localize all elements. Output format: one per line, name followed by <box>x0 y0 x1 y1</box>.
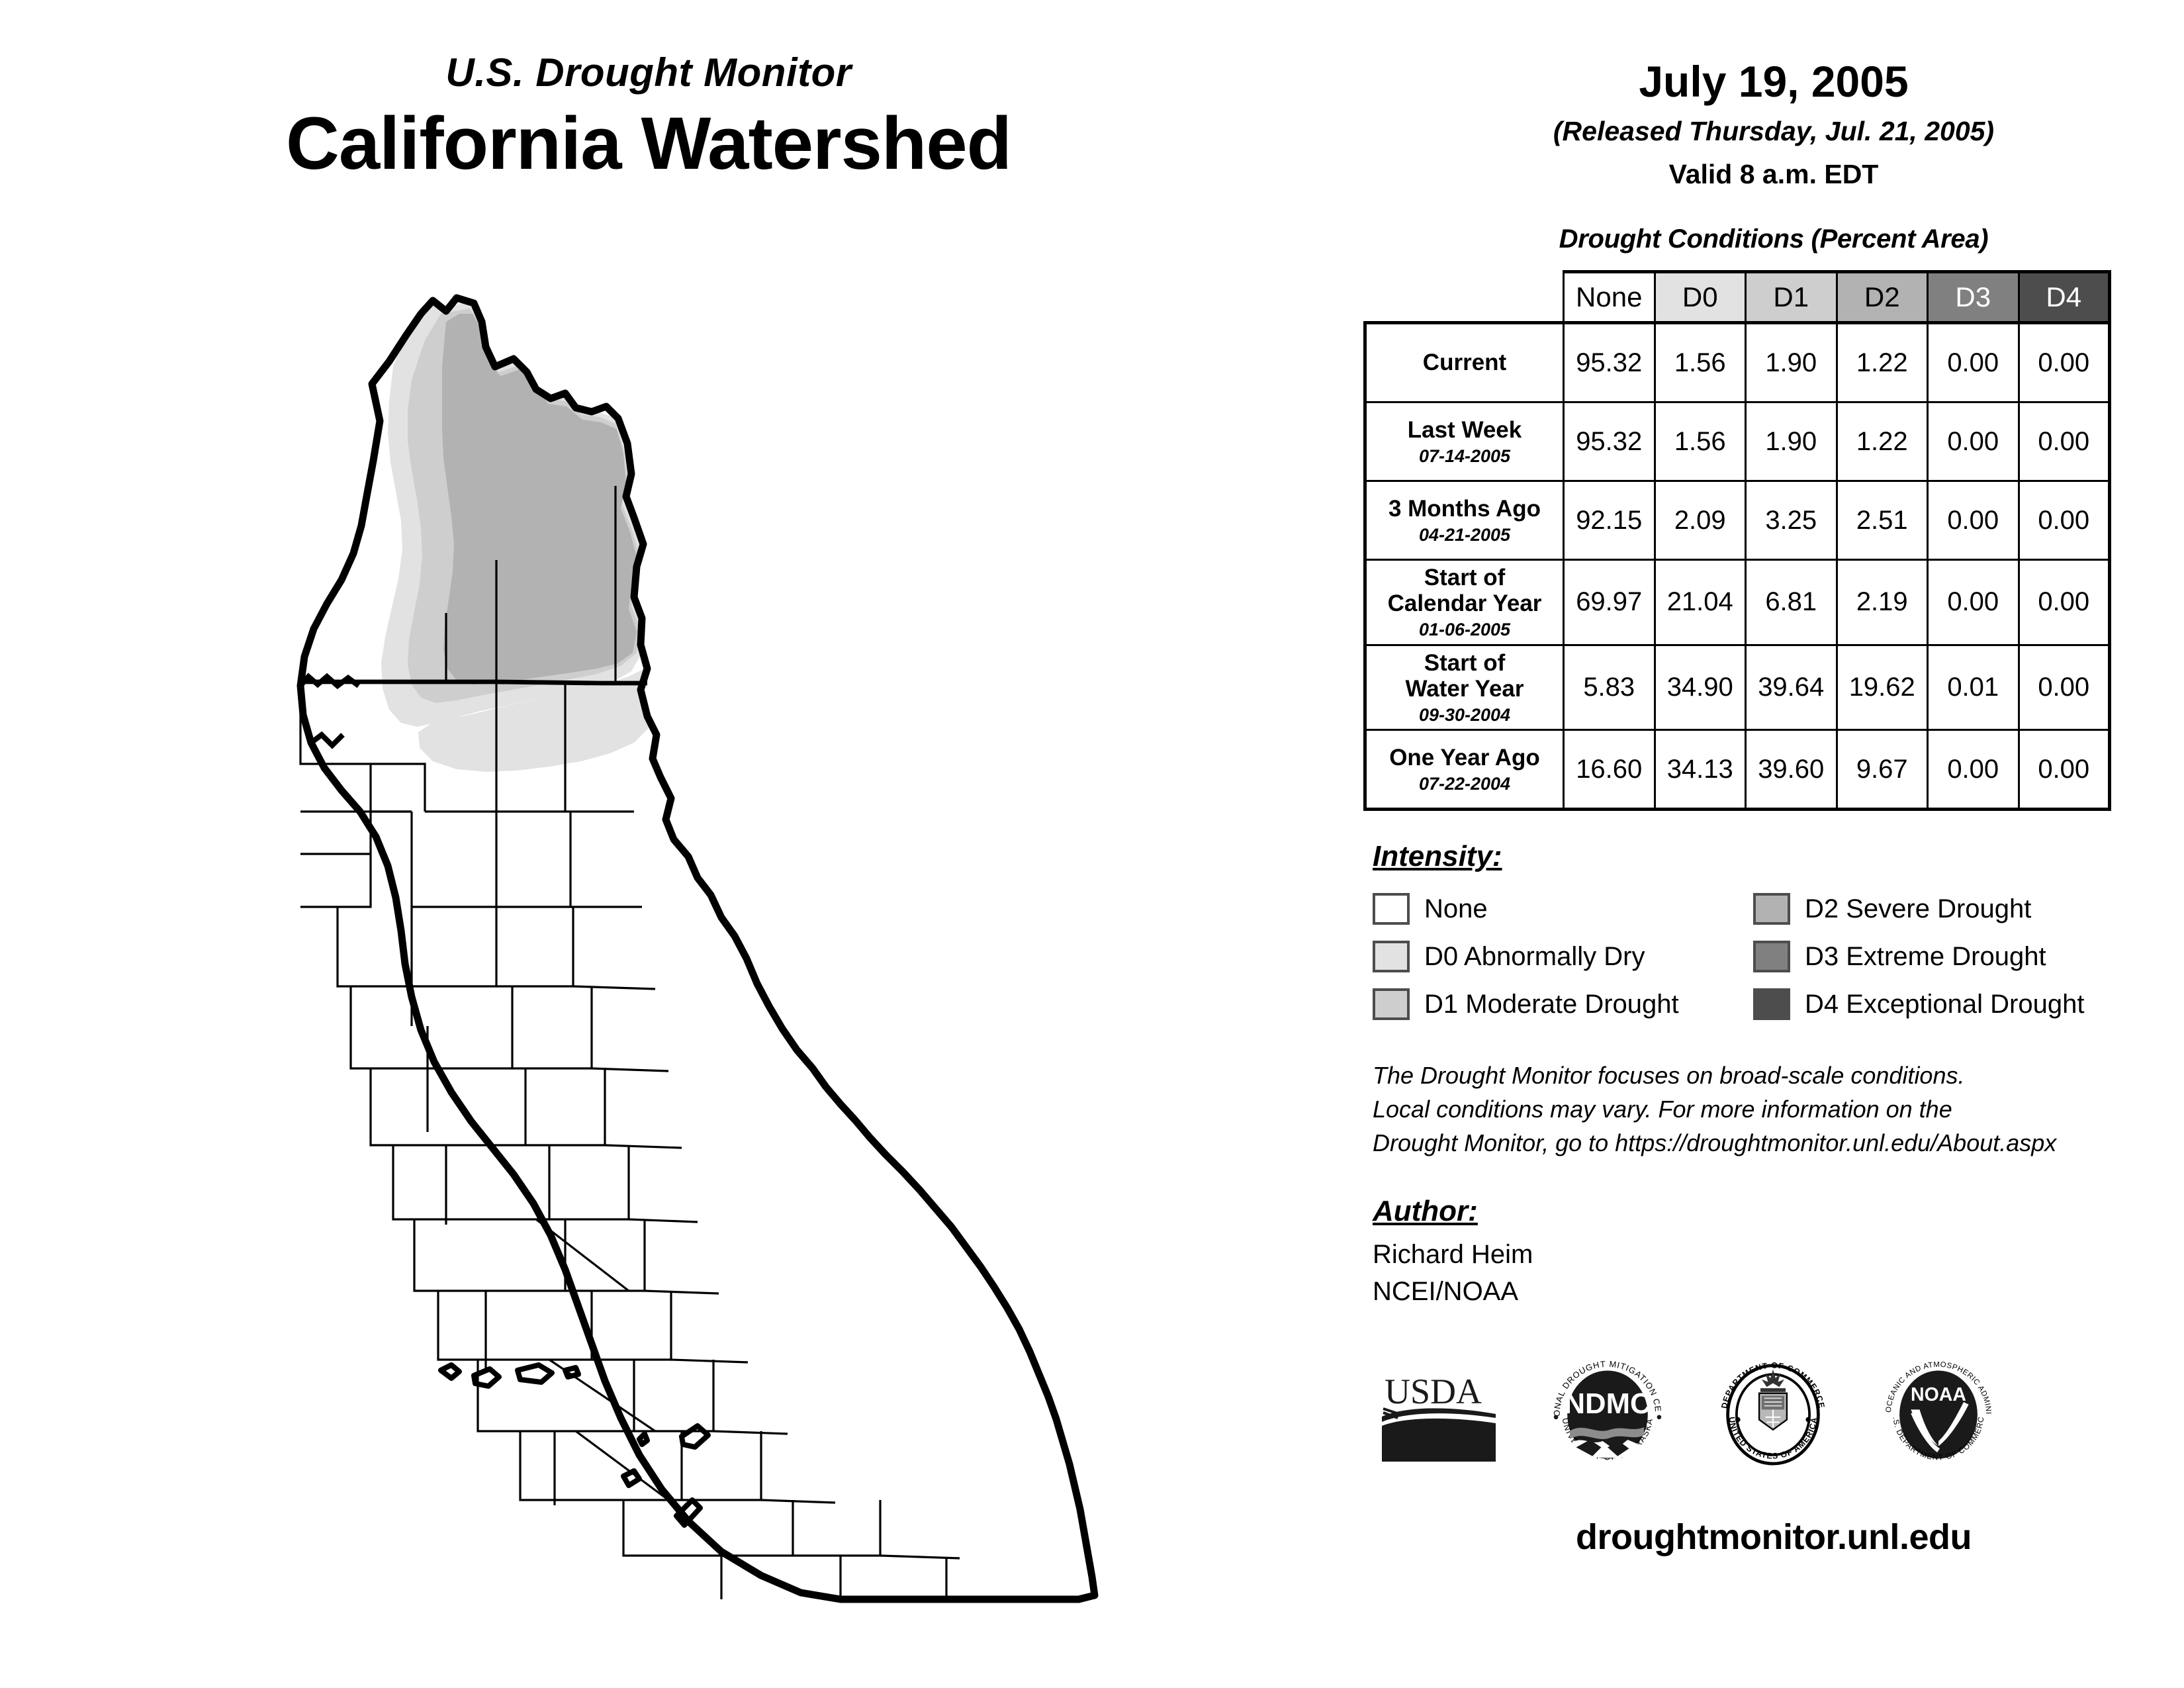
legend-swatch-d2 <box>1753 893 1790 925</box>
drought-shading-group <box>381 298 655 772</box>
author-heading: Author: <box>1373 1195 2184 1228</box>
table-row: Last Week07-14-200595.321.561.901.220.00… <box>1365 402 2110 481</box>
right-panel: July 19, 2005 (Released Thursday, Jul. 2… <box>1363 0 2184 1688</box>
cell-0-none: 95.32 <box>1564 323 1655 402</box>
table-header-d3: D3 <box>1928 272 2019 323</box>
row-label-3: Start ofCalendar Year01-06-2005 <box>1365 560 1564 645</box>
title-block: U.S. Drought Monitor California Watershe… <box>0 53 1297 183</box>
legend-swatch-d3 <box>1753 941 1790 972</box>
author-name: Richard Heim <box>1373 1236 2184 1274</box>
legend-label-d3: D3 Extreme Drought <box>1805 942 2046 972</box>
map-svg <box>99 285 1291 1648</box>
footer-url: droughtmonitor.unl.edu <box>1363 1517 2184 1558</box>
program-title: U.S. Drought Monitor <box>0 53 1297 93</box>
cell-2-d0: 2.09 <box>1655 481 1746 560</box>
row-label-0: Current <box>1365 323 1564 402</box>
table-header-none: None <box>1564 272 1655 323</box>
author-affiliation: NCEI/NOAA <box>1373 1273 2184 1311</box>
legend-label-d2: D2 Severe Drought <box>1805 894 2031 924</box>
cell-3-d2: 2.19 <box>1837 560 1928 645</box>
row-label-2: 3 Months Ago04-21-2005 <box>1365 481 1564 560</box>
cell-4-d2: 19.62 <box>1837 645 1928 730</box>
d2-region <box>442 314 637 684</box>
date-block: July 19, 2005 (Released Thursday, Jul. 2… <box>1363 0 2184 188</box>
cell-0-d1: 1.90 <box>1746 323 1837 402</box>
row-label-1: Last Week07-14-2005 <box>1365 402 1564 481</box>
ndmc-logo: NATIONAL DROUGHT MITIGATION CENTER UNIVE… <box>1545 1352 1670 1481</box>
row-date: 07-22-2004 <box>1369 774 1560 794</box>
legend-label-d1: D1 Moderate Drought <box>1424 990 1679 1019</box>
region-title: California Watershed <box>0 105 1297 183</box>
legend-swatch-d1 <box>1373 988 1410 1020</box>
cell-3-d1: 6.81 <box>1746 560 1837 645</box>
row-date: 09-30-2004 <box>1369 705 1560 725</box>
cell-4-d0: 34.90 <box>1655 645 1746 730</box>
table-caption: Drought Conditions (Percent Area) <box>1363 224 2184 254</box>
cell-3-d3: 0.00 <box>1928 560 2019 645</box>
table-header-d4: D4 <box>2019 272 2110 323</box>
cell-0-d0: 1.56 <box>1655 323 1746 402</box>
valid-time: Valid 8 a.m. EDT <box>1363 161 2184 188</box>
legend-row: D1 Moderate DroughtD4 Exceptional Drough… <box>1373 980 2134 1028</box>
cell-4-d1: 39.64 <box>1746 645 1837 730</box>
cell-2-none: 92.15 <box>1564 481 1655 560</box>
table-row: 3 Months Ago04-21-200592.152.093.252.510… <box>1365 481 2110 560</box>
cell-0-d4: 0.00 <box>2019 323 2110 402</box>
doc-seal-logo: DEPARTMENT OF COMMERCE UNITED STATES OF … <box>1710 1352 1836 1481</box>
cell-1-d4: 0.00 <box>2019 402 2110 481</box>
cell-3-none: 69.97 <box>1564 560 1655 645</box>
cell-2-d2: 2.51 <box>1837 481 1928 560</box>
table-header-d0: D0 <box>1655 272 1746 323</box>
cell-2-d4: 0.00 <box>2019 481 2110 560</box>
cell-3-d4: 0.00 <box>2019 560 2110 645</box>
cell-4-d3: 0.01 <box>1928 645 2019 730</box>
disclaimer-line-3: Drought Monitor, go to https://droughtmo… <box>1373 1126 2184 1160</box>
intensity-heading: Intensity: <box>1373 840 2184 873</box>
drought-map <box>99 285 1291 1648</box>
disclaimer-line-2: Local conditions may vary. For more info… <box>1373 1092 2184 1126</box>
cell-1-none: 95.32 <box>1564 402 1655 481</box>
table-row: Current95.321.561.901.220.000.00 <box>1365 323 2110 402</box>
cell-1-d1: 1.90 <box>1746 402 1837 481</box>
cell-0-d3: 0.00 <box>1928 323 2019 402</box>
legend-item-d1: D1 Moderate Drought <box>1373 988 1753 1020</box>
cell-5-none: 16.60 <box>1564 730 1655 810</box>
row-date: 04-21-2005 <box>1369 525 1560 545</box>
cell-1-d3: 0.00 <box>1928 402 2019 481</box>
cell-2-d3: 0.00 <box>1928 481 2019 560</box>
cell-5-d0: 34.13 <box>1655 730 1746 810</box>
cell-3-d0: 21.04 <box>1655 560 1746 645</box>
legend-label-d4: D4 Exceptional Drought <box>1805 990 2084 1019</box>
row-label-5: One Year Ago07-22-2004 <box>1365 730 1564 810</box>
intensity-legend: NoneD2 Severe DroughtD0 Abnormally DryD3… <box>1373 885 2134 1028</box>
table-header-d2: D2 <box>1837 272 1928 323</box>
table-body: Current95.321.561.901.220.000.00Last Wee… <box>1365 323 2110 810</box>
svg-text:NOAA: NOAA <box>1911 1384 1966 1405</box>
row-date: 01-06-2005 <box>1369 620 1560 639</box>
table-header-d1: D1 <box>1746 272 1837 323</box>
legend-swatch-d0 <box>1373 941 1410 972</box>
cell-1-d2: 1.22 <box>1837 402 1928 481</box>
cell-0-d2: 1.22 <box>1837 323 1928 402</box>
legend-row: D0 Abnormally DryD3 Extreme Drought <box>1373 933 2134 980</box>
table-row: Start ofWater Year09-30-20045.8334.9039.… <box>1365 645 2110 730</box>
cell-1-d0: 1.56 <box>1655 402 1746 481</box>
legend-swatch-none <box>1373 893 1410 925</box>
legend-label-none: None <box>1424 894 1488 924</box>
cell-4-d4: 0.00 <box>2019 645 2110 730</box>
disclaimer-line-1: The Drought Monitor focuses on broad-sca… <box>1373 1058 2184 1092</box>
cell-2-d1: 3.25 <box>1746 481 1837 560</box>
logo-row: USDA NATIONAL DROUGHT MITIGATION CENTER … <box>1379 1352 2184 1481</box>
legend-item-d2: D2 Severe Drought <box>1753 893 2134 925</box>
cell-5-d4: 0.00 <box>2019 730 2110 810</box>
usda-logo: USDA <box>1379 1365 1505 1468</box>
row-date: 07-14-2005 <box>1369 446 1560 466</box>
table-row: One Year Ago07-22-200416.6034.1339.609.6… <box>1365 730 2110 810</box>
legend-row: NoneD2 Severe Drought <box>1373 885 2134 933</box>
drought-conditions-table: NoneD0D1D2D3D4 Current95.321.561.901.220… <box>1363 270 2111 811</box>
table-header-row: NoneD0D1D2D3D4 <box>1365 272 2110 323</box>
cell-5-d1: 39.60 <box>1746 730 1837 810</box>
legend-label-d0: D0 Abnormally Dry <box>1424 942 1645 972</box>
svg-text:USDA: USDA <box>1385 1372 1482 1411</box>
table-corner-cell <box>1365 272 1564 323</box>
legend-item-d4: D4 Exceptional Drought <box>1753 988 2134 1020</box>
legend-swatch-d4 <box>1753 988 1790 1020</box>
noaa-logo: NATIONAL OCEANIC AND ATMOSPHERIC ADMINIS… <box>1876 1352 2001 1481</box>
monitor-date: July 19, 2005 <box>1363 60 2184 103</box>
disclaimer-text: The Drought Monitor focuses on broad-sca… <box>1373 1058 2184 1160</box>
legend-item-d3: D3 Extreme Drought <box>1753 941 2134 972</box>
cell-4-none: 5.83 <box>1564 645 1655 730</box>
released-date: (Released Thursday, Jul. 21, 2005) <box>1363 118 2184 145</box>
row-label-4: Start ofWater Year09-30-2004 <box>1365 645 1564 730</box>
svg-text:NDMC: NDMC <box>1564 1387 1651 1420</box>
cell-5-d3: 0.00 <box>1928 730 2019 810</box>
legend-item-d0: D0 Abnormally Dry <box>1373 941 1753 972</box>
table-row: Start ofCalendar Year01-06-200569.9721.0… <box>1365 560 2110 645</box>
legend-item-none: None <box>1373 893 1753 925</box>
cell-5-d2: 9.67 <box>1837 730 1928 810</box>
